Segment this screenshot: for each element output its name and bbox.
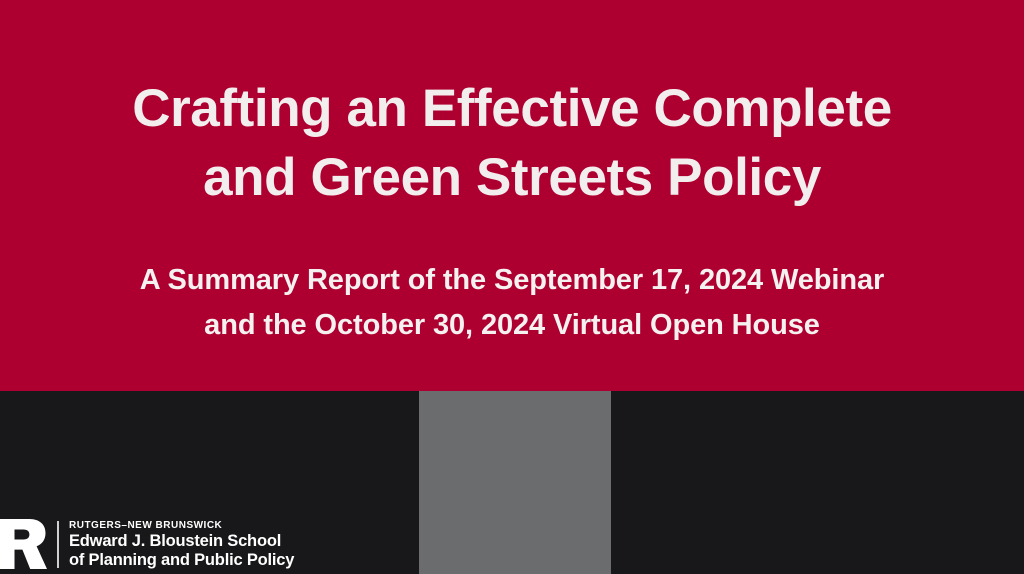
logo-eyebrow: RUTGERS–NEW BRUNSWICK [69, 519, 294, 532]
subtitle-line-1: A Summary Report of the September 17, 20… [0, 258, 1024, 303]
title-slide: Crafting an Effective Complete and Green… [0, 0, 1024, 574]
title-line-1: Crafting an Effective Complete [0, 74, 1024, 143]
logo-divider [57, 521, 59, 568]
gray-column-accent [419, 391, 611, 574]
subtitle-line-2: and the October 30, 2024 Virtual Open Ho… [0, 303, 1024, 348]
logo-school-name-line-1: Edward J. Bloustein School [69, 532, 294, 551]
title-line-2: and Green Streets Policy [0, 143, 1024, 212]
page-title: Crafting an Effective Complete and Green… [0, 74, 1024, 212]
rutgers-r-icon [0, 518, 48, 570]
page-subtitle: A Summary Report of the September 17, 20… [0, 258, 1024, 348]
rutgers-logo-lockup: RUTGERS–NEW BRUNSWICK Edward J. Bloustei… [0, 515, 294, 573]
logo-school-name-line-2: of Planning and Public Policy [69, 551, 294, 570]
logo-wordmark: RUTGERS–NEW BRUNSWICK Edward J. Bloustei… [69, 519, 294, 570]
scarlet-banner: Crafting an Effective Complete and Green… [0, 0, 1024, 391]
